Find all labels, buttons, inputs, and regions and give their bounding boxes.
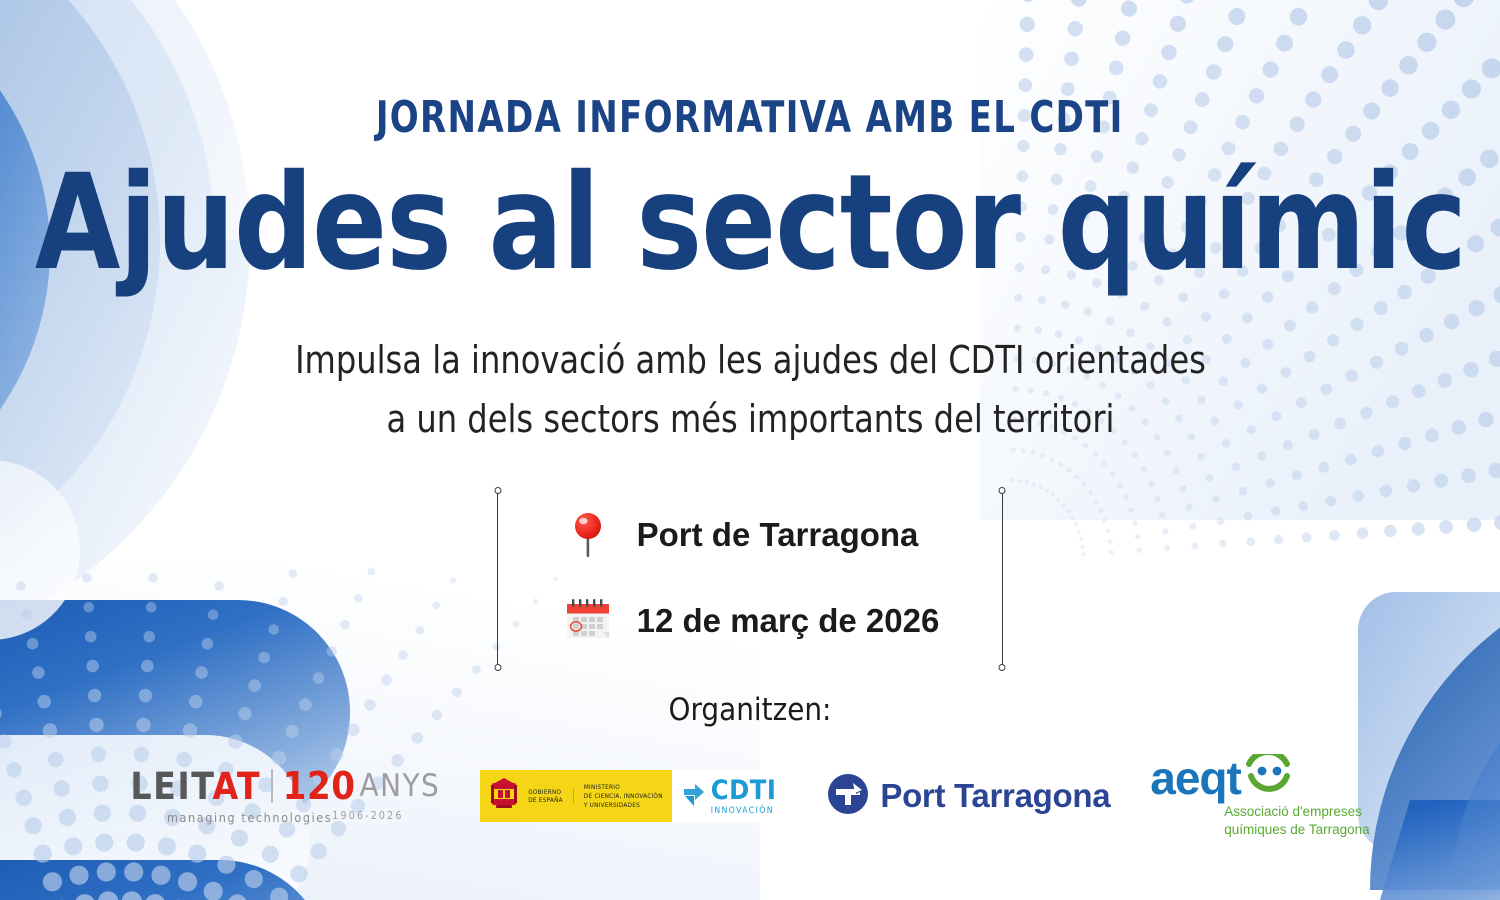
spain-coat-of-arms-icon xyxy=(489,777,519,816)
location-row: Port de Tarragona xyxy=(561,512,940,558)
cdti-wordmark: CDTI xyxy=(711,777,777,804)
location-label: Port de Tarragona xyxy=(637,516,919,554)
divider-right xyxy=(1001,490,1003,668)
leitat-anniversary-years: 1906-2026 xyxy=(332,810,403,822)
logo-leitat: LEITAT 120 ANYS managing technologies 19… xyxy=(130,767,440,825)
port-tarragona-mark-icon xyxy=(826,772,870,821)
cdti-arrow-icon xyxy=(682,780,706,813)
event-details-rows: Port de Tarragona xyxy=(525,490,976,668)
leitat-separator xyxy=(271,769,273,803)
gobierno-text-group: GOBIERNO DE ESPAÑA MINISTERIO DE CIENCIA… xyxy=(528,783,663,809)
divider-line xyxy=(1002,490,1004,668)
gobierno-divider xyxy=(573,789,574,803)
leitat-sublockup: managing technologies 1906-2026 xyxy=(167,805,404,825)
logo-aeqt: aeqt Associació d'empreses químiques de … xyxy=(1150,754,1369,838)
poster-content: JORNADA INFORMATIVA AMB EL CDTI Ajudes a… xyxy=(0,0,1500,900)
divider-cap-bottom xyxy=(999,664,1006,671)
date-row: 12 de març de 2026 xyxy=(561,596,940,646)
event-poster: JORNADA INFORMATIVA AMB EL CDTI Ajudes a… xyxy=(0,0,1500,900)
divider-cap-top xyxy=(494,487,501,494)
page-title: Ajudes al sector químic xyxy=(34,156,1465,291)
aeqt-lockup: aeqt xyxy=(1150,754,1295,801)
event-details-block: Port de Tarragona xyxy=(471,490,1030,668)
leitat-anniversary-word: ANYS xyxy=(360,771,441,802)
map-pin-icon xyxy=(561,512,615,558)
cdti-tagline: INNOVACIÓN xyxy=(711,807,777,816)
organizers-label: Organitzen: xyxy=(669,692,832,728)
leitat-anniversary-number: 120 xyxy=(283,767,356,805)
aeqt-smile-mark-icon xyxy=(1243,754,1295,801)
cdti-text-group: CDTI INNOVACIÓN xyxy=(711,777,777,816)
logo-gobierno-cdti: GOBIERNO DE ESPAÑA MINISTERIO DE CIENCIA… xyxy=(480,770,786,822)
logo-port-tarragona: Port Tarragona xyxy=(826,772,1110,821)
divider-cap-top xyxy=(999,487,1006,494)
poster-subtitle: Impulsa la innovació amb les ajudes del … xyxy=(295,331,1206,449)
subtitle-line-1: Impulsa la innovació amb les ajudes del … xyxy=(295,331,1206,390)
divider-line xyxy=(497,490,499,668)
leitat-lockup: LEITAT 120 ANYS xyxy=(130,767,440,805)
gobierno-espana-block: GOBIERNO DE ESPAÑA MINISTERIO DE CIENCIA… xyxy=(480,770,672,822)
calendar-icon xyxy=(561,596,615,646)
leitat-wordmark: LEITAT xyxy=(130,768,261,805)
poster-kicker: JORNADA INFORMATIVA AMB EL CDTI xyxy=(376,96,1124,140)
leitat-tagline: managing technologies xyxy=(167,810,332,825)
aeqt-wordmark: aeqt xyxy=(1150,755,1241,801)
gobierno-text: GOBIERNO DE ESPAÑA xyxy=(528,788,563,805)
ministerio-text: MINISTERIO DE CIENCIA, INNOVACIÓN Y UNIV… xyxy=(584,783,663,809)
divider-left xyxy=(497,490,499,668)
aeqt-tagline: Associació d'empreses químiques de Tarra… xyxy=(1224,803,1369,838)
cdti-block: CDTI INNOVACIÓN xyxy=(672,770,787,822)
port-tarragona-wordmark: Port Tarragona xyxy=(880,777,1110,815)
organizer-logos: LEITAT 120 ANYS managing technologies 19… xyxy=(130,754,1369,838)
subtitle-line-2: a un dels sectors més importants del ter… xyxy=(295,390,1206,449)
divider-cap-bottom xyxy=(494,664,501,671)
date-label: 12 de març de 2026 xyxy=(637,602,940,640)
